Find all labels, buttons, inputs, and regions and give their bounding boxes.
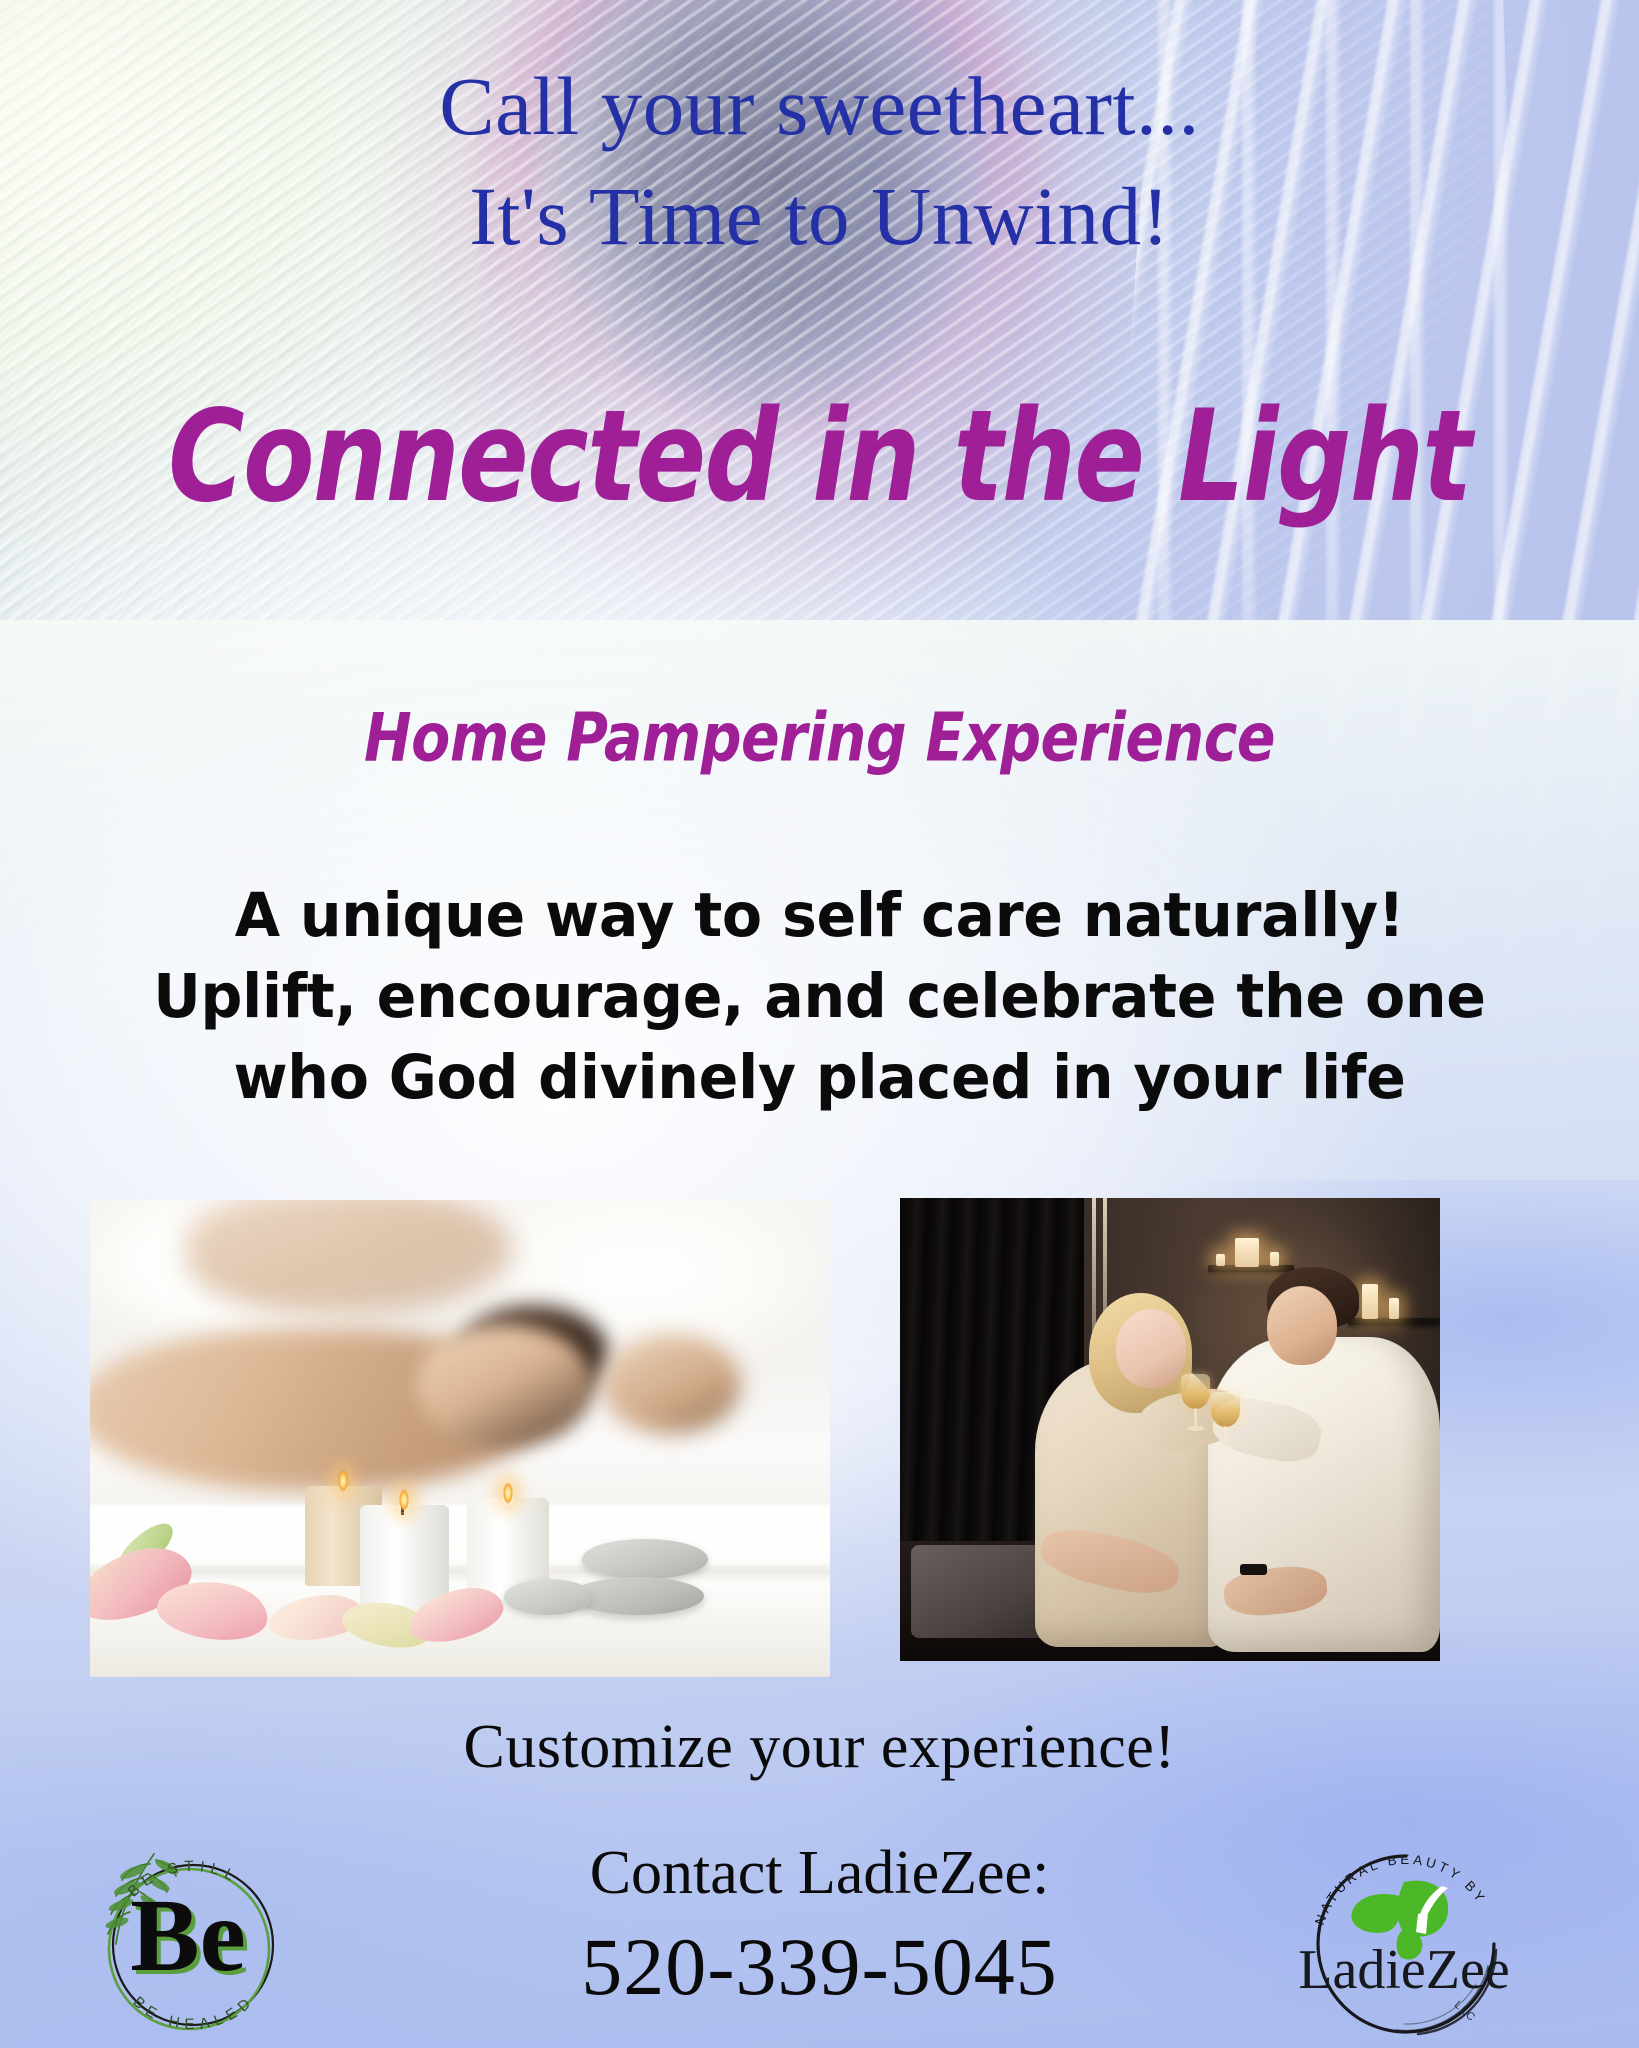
logo-arc-bottom-text: BE HEALED	[130, 1991, 259, 2033]
client-head	[416, 1324, 594, 1448]
pillar-candle	[1235, 1238, 1259, 1267]
wristband	[1240, 1564, 1267, 1575]
second-client-head	[601, 1334, 742, 1434]
headline-line-1: Call your sweetheart...	[0, 52, 1639, 162]
glass-foot	[1187, 1426, 1204, 1431]
spa-stone-top	[582, 1539, 708, 1580]
candle-shelf-right	[1348, 1318, 1440, 1325]
brand-subtitle: Home Pampering Experience	[0, 699, 1639, 777]
logo-monogram: Be	[130, 1878, 246, 1993]
glass-bowl	[1211, 1392, 1241, 1427]
customize-tagline: Customize your experience!	[0, 1712, 1639, 1783]
couple-robes-toast-photo	[900, 1198, 1440, 1661]
poster-canvas: Call your sweetheart... It's Time to Unw…	[0, 0, 1639, 2048]
candle-white-front	[360, 1505, 449, 1610]
headline-line-2: It's Time to Unwind!	[0, 162, 1639, 272]
wine-glass-icon	[1211, 1392, 1241, 1452]
tea-candle	[1270, 1252, 1279, 1266]
body-copy: A unique way to self care naturally! Upl…	[60, 875, 1579, 1118]
mans-face	[1267, 1286, 1337, 1365]
glass-bowl	[1181, 1374, 1211, 1409]
candle-wax	[360, 1505, 449, 1610]
body-line-1: A unique way to self care naturally!	[90, 875, 1548, 956]
glass-stem	[1194, 1408, 1197, 1427]
glass-foot	[1217, 1445, 1234, 1450]
ladiezee-logo: NATURAL BEAUTY BY LadieZee LLC	[1300, 1838, 1512, 2048]
body-line-2: Uplift, encourage, and celebrate the one	[90, 956, 1548, 1037]
body-line-3: who God divinely placed in your life	[90, 1037, 1548, 1118]
be-still-be-healed-logo: BE STILL BE HEALED Be Be	[88, 1840, 298, 2048]
flame-icon	[503, 1481, 514, 1505]
spa-stone-side	[504, 1579, 593, 1615]
flame-icon	[338, 1469, 349, 1493]
tea-candle	[1389, 1298, 1399, 1319]
tea-candle	[1216, 1254, 1225, 1266]
massage-table-edge	[90, 1567, 830, 1581]
flame-icon	[399, 1488, 410, 1512]
glass-stem	[1224, 1426, 1227, 1445]
couples-massage-photo	[90, 1200, 830, 1677]
wine-glass-icon	[1181, 1374, 1211, 1434]
poster-content: Call your sweetheart... It's Time to Unw…	[0, 0, 1639, 2048]
brand-title: Connected in the Light	[0, 382, 1639, 531]
womans-face	[1116, 1309, 1186, 1388]
pillar-candle	[1362, 1284, 1378, 1319]
bench-cushion	[911, 1545, 1051, 1638]
headline: Call your sweetheart... It's Time to Unw…	[0, 52, 1639, 271]
logo-wordmark: LadieZee	[1298, 1939, 1509, 2001]
